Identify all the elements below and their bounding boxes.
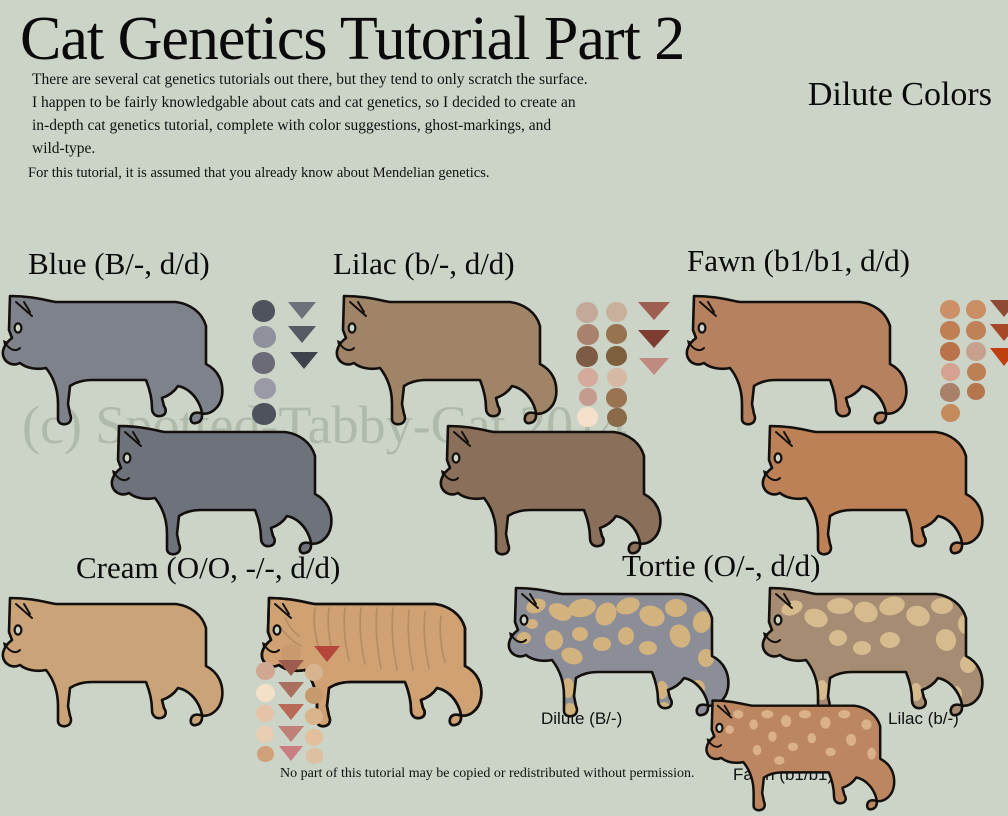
swatch-triangle (278, 704, 304, 720)
swatch-group-cream (256, 644, 341, 762)
swatch-dot (940, 300, 960, 319)
section-title-blue: Blue (B/-, d/d) (28, 248, 210, 279)
swatch-dot (577, 407, 598, 427)
intro-line-3: in-depth cat genetics tutorial, complete… (28, 114, 688, 137)
swatch-dot (256, 726, 274, 743)
cat-body-shape (763, 426, 983, 554)
intro-paragraph: There are several cat genetics tutorials… (28, 68, 688, 185)
page-subtitle: Dilute Colors (808, 78, 992, 112)
cat-body-shape (337, 296, 557, 424)
cat-lilac-2 (434, 416, 684, 561)
swatch-triangle (990, 324, 1008, 341)
swatch-dot (254, 378, 276, 399)
footer-copyright-note: No part of this tutorial may be copied o… (280, 766, 694, 782)
swatch-group-fawn (940, 300, 1008, 430)
cat-body-shape (3, 296, 223, 424)
swatch-dot (256, 662, 275, 680)
cat-blue-1 (0, 286, 246, 431)
swatch-triangle (288, 302, 316, 319)
swatch-dot (256, 705, 274, 722)
cat-tortie-fawn (700, 692, 915, 816)
cat-eye (775, 615, 782, 624)
cat-eye (716, 724, 722, 732)
cat-cream-1 (0, 588, 246, 733)
swatch-dot (305, 687, 323, 704)
intro-line-2: I happen to be fairly knowledgable about… (28, 91, 688, 114)
swatch-group-blue (252, 300, 332, 425)
swatch-dot (940, 342, 960, 361)
swatch-dot (966, 321, 986, 340)
swatch-dot (967, 363, 986, 381)
cat-eye (15, 323, 22, 332)
swatch-dot (578, 368, 598, 387)
swatch-dot (941, 404, 960, 422)
cat-fawn-1 (680, 286, 930, 431)
swatch-dot (257, 746, 274, 762)
swatch-triangle (279, 746, 303, 761)
cat-eye (15, 625, 22, 634)
cat-eye (775, 453, 782, 462)
swatch-dot (577, 324, 599, 345)
swatch-dot (252, 352, 275, 374)
cat-lilac-1 (330, 286, 580, 431)
swatch-triangle (278, 726, 304, 742)
cat-body-shape (441, 426, 661, 554)
swatch-dot (576, 346, 598, 367)
page-title: Cat Genetics Tutorial Part 2 (20, 8, 684, 70)
swatch-triangle (639, 358, 669, 375)
swatch-dot (305, 729, 323, 746)
swatch-triangle (290, 352, 318, 369)
tutorial-page: (c) Spotted-Tabby-Cat 2014 Cat Genetics … (0, 0, 1008, 793)
swatch-dot (607, 408, 627, 427)
swatch-triangle (990, 300, 1008, 317)
swatch-group-lilac (576, 302, 686, 432)
cat-eye (274, 625, 281, 634)
swatch-dot (306, 748, 323, 764)
swatch-dot (252, 403, 276, 425)
cat-body-shape (3, 598, 223, 726)
swatch-triangle (278, 682, 304, 698)
intro-line-5: For this tutorial, it is assumed that yo… (28, 162, 688, 185)
intro-line-1: There are several cat genetics tutorials… (28, 68, 688, 91)
swatch-dot (966, 300, 986, 319)
swatch-dot (253, 326, 276, 348)
section-title-lilac: Lilac (b/-, d/d) (333, 248, 515, 279)
cat-eye (453, 453, 460, 462)
swatch-dot (606, 302, 627, 322)
swatch-triangle (638, 302, 670, 320)
swatch-dot (252, 300, 275, 322)
cat-eye (124, 453, 131, 462)
section-title-fawn: Fawn (b1/b1, d/d) (687, 245, 910, 276)
cat-body-shape (687, 296, 907, 424)
swatch-triangle (278, 660, 304, 676)
cat-blue-2 (105, 416, 355, 561)
swatch-triangle (314, 646, 340, 662)
swatch-dot (256, 684, 275, 702)
cat-fawn-2 (754, 416, 1008, 561)
cat-eye (349, 323, 356, 332)
swatch-dot (305, 708, 323, 725)
swatch-dot (940, 383, 960, 402)
swatch-dot (579, 388, 597, 406)
swatch-triangle (288, 326, 316, 343)
swatch-dot (576, 302, 598, 323)
intro-line-4: wild-type. (28, 137, 688, 160)
swatch-dot (606, 388, 627, 408)
swatch-triangle (990, 348, 1008, 366)
swatch-triangle (638, 330, 670, 348)
cat-body-shape (112, 426, 332, 554)
swatch-dot (967, 383, 985, 400)
swatch-dot (940, 321, 960, 340)
swatch-dot (966, 342, 986, 361)
swatch-dot (305, 664, 323, 681)
cat-eye (521, 615, 528, 624)
swatch-dot (606, 346, 627, 366)
swatch-dot (941, 363, 960, 381)
cat-eye (699, 323, 706, 332)
swatch-dot (607, 368, 627, 387)
swatch-dot (606, 324, 627, 344)
